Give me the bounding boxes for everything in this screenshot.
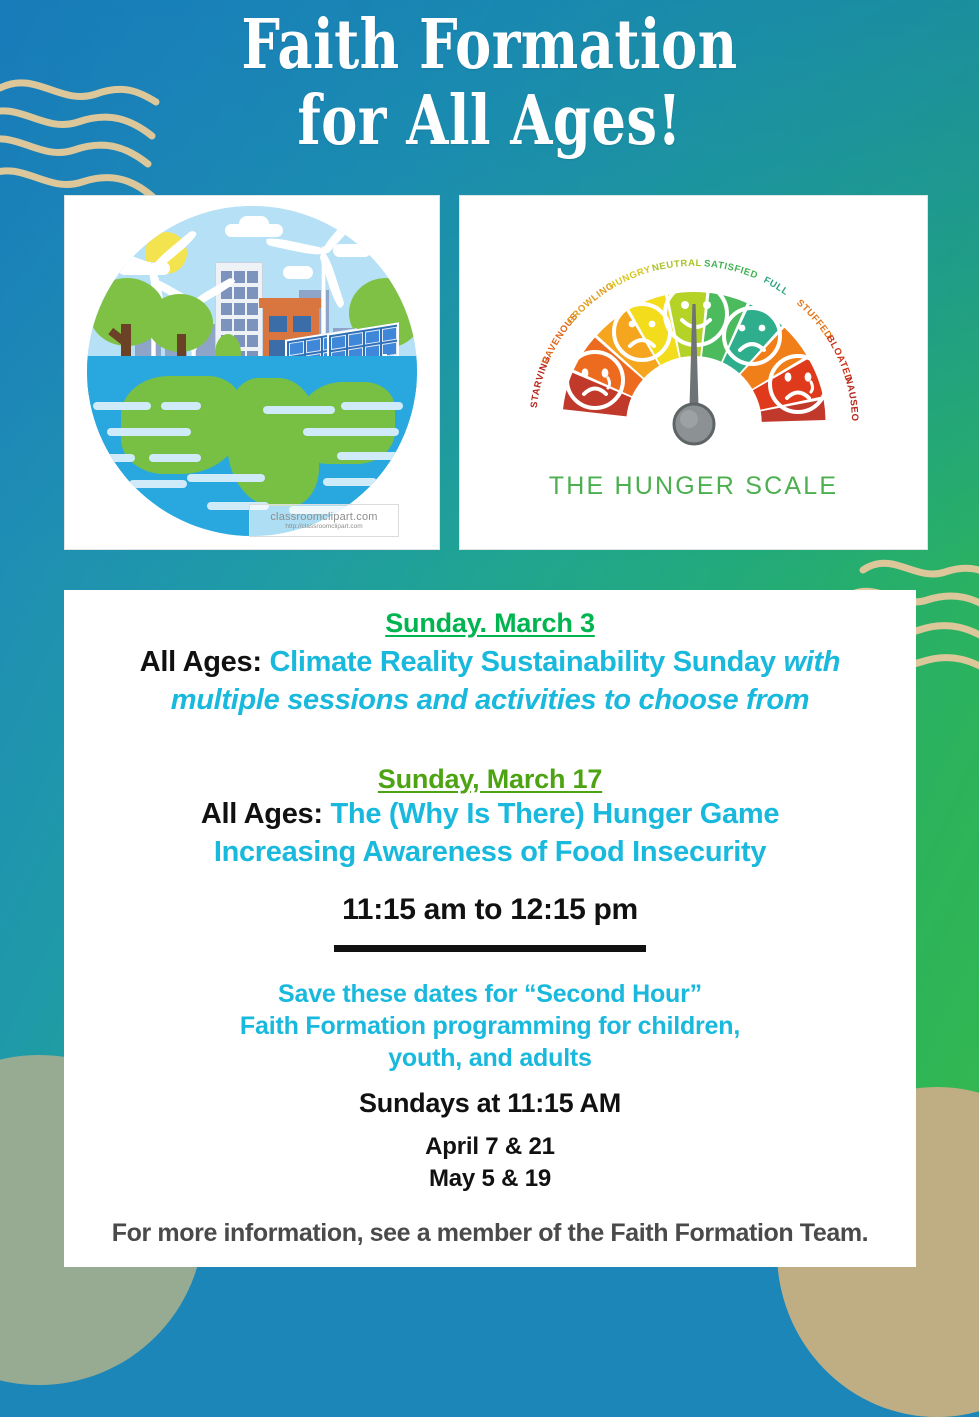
cloud-icon (333, 244, 371, 257)
image-row: classroomclipart.com http://classroomcli… (64, 195, 928, 550)
very-sad-face-left (567, 352, 623, 408)
session-2-date-heading: Sunday, March 17 (90, 764, 890, 795)
session-1-title: Climate Reality Sustainability Sunday (269, 646, 775, 678)
hunger-scale-caption: THE HUNGER SCALE (460, 472, 927, 501)
watermark-line-1: classroomclipart.com (270, 511, 377, 523)
gauge-svg: STARVING RAVENOUS GROWLING HUNGRY NEUTRA… (484, 212, 904, 462)
footer-note: For more information, see a member of th… (90, 1219, 890, 1248)
divider-rule (334, 945, 646, 952)
segment-label-neutral: NEUTRAL (650, 258, 701, 274)
segment-label-full: FULL (761, 275, 790, 298)
save-dates-line-3: youth, and adults (90, 1042, 890, 1074)
sundays-time-line: Sundays at 11:15 AM (90, 1088, 890, 1119)
clipart-watermark: classroomclipart.com http://classroomcli… (249, 504, 399, 537)
sustainable-city-earth-illustration: classroomclipart.com http://classroomcli… (65, 196, 439, 549)
watermark-line-2: http://classroomclipart.com (285, 523, 362, 530)
session-1-audience: All Ages: (140, 646, 262, 678)
segment-label-hungry: HUNGRY (606, 264, 652, 292)
climate-illustration-frame: classroomclipart.com http://classroomcli… (64, 195, 440, 550)
svg-text:FULL: FULL (761, 275, 790, 298)
segment-label-bloated: BLOATED (823, 333, 853, 383)
cloud-icon (239, 216, 269, 232)
gauge-wrap: STARVING RAVENOUS GROWLING HUNGRY NEUTRA… (460, 212, 927, 472)
extra-date-may: May 5 & 19 (90, 1165, 890, 1193)
session-2-audience: All Ages: (201, 798, 323, 830)
title-line-2: for All Ages! (98, 88, 881, 155)
segment-label-growling: GROWLING (564, 280, 616, 326)
segment-label-satisfied: SATISFIED (703, 258, 759, 281)
save-dates-line-2: Faith Formation programming for children… (90, 1010, 890, 1042)
cloud-icon (283, 266, 313, 279)
earth-globe (87, 206, 417, 536)
session-2-title: The (Why Is There) Hunger Game (331, 798, 780, 830)
content-card: Sunday. March 3 All Ages: Climate Realit… (64, 590, 916, 1267)
save-dates-block: Save these dates for “Second Hour” Faith… (90, 978, 890, 1074)
segment-label-stuffed: STUFFED (794, 298, 834, 342)
session-1-description: All Ages: Climate Reality Sustainability… (90, 643, 890, 720)
section-spacer (90, 720, 890, 764)
svg-text:BLOATED: BLOATED (823, 333, 853, 383)
svg-text:HUNGRY: HUNGRY (606, 264, 652, 292)
save-dates-line-1: Save these dates for “Second Hour” (90, 978, 890, 1010)
hunger-scale-frame: STARVING RAVENOUS GROWLING HUNGRY NEUTRA… (459, 195, 928, 550)
session-1-date-heading: Sunday. March 3 (90, 608, 890, 639)
time-range: 11:15 am to 12:15 pm (90, 893, 890, 927)
flyer-title: Faith Formation for All Ages! (0, 12, 979, 154)
svg-text:STUFFED: STUFFED (794, 298, 834, 342)
session-2-description: All Ages: The (Why Is There) Hunger Game… (90, 795, 890, 872)
session-2-subtitle: Increasing Awareness of Food Insecurity (90, 833, 890, 871)
brick-building-roof (259, 298, 323, 308)
svg-text:GROWLING: GROWLING (564, 280, 616, 326)
svg-text:SATISFIED: SATISFIED (703, 258, 759, 281)
hunger-scale-gauge: STARVING RAVENOUS GROWLING HUNGRY NEUTRA… (460, 196, 927, 549)
title-line-1: Faith Formation (98, 12, 881, 79)
extra-date-april: April 7 & 21 (90, 1133, 890, 1161)
svg-text:NEUTRAL: NEUTRAL (650, 258, 701, 274)
